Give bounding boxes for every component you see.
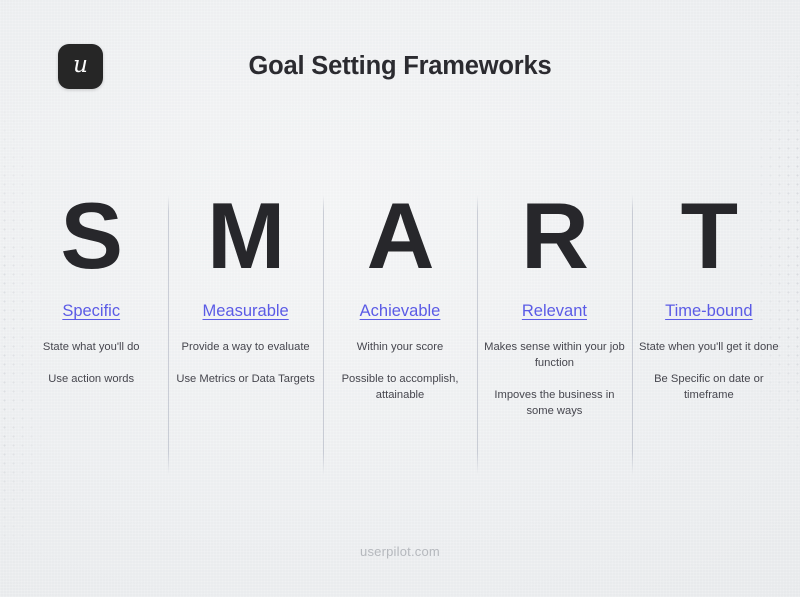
poster-header: u Goal Setting Frameworks bbox=[0, 0, 800, 140]
term-link-relevant[interactable]: Relevant bbox=[522, 302, 587, 321]
description-line: State what you'll do bbox=[20, 339, 162, 355]
acronym-letter: A bbox=[329, 186, 471, 286]
description-line: Use Metrics or Data Targets bbox=[175, 371, 317, 387]
smart-column-measurable: M Measurable Provide a way to evaluate U… bbox=[168, 186, 322, 476]
term-link-time-bound[interactable]: Time-bound bbox=[665, 302, 752, 321]
description-list: State when you'll get it done Be Specifi… bbox=[638, 339, 780, 403]
smart-column-relevant: R Relevant Makes sense within your job f… bbox=[477, 186, 631, 476]
description-line: Within your score bbox=[329, 339, 471, 355]
smart-column-achievable: A Achievable Within your score Possible … bbox=[323, 186, 477, 476]
poster-canvas: u Goal Setting Frameworks S Specific Sta… bbox=[0, 0, 800, 597]
term-link-measurable[interactable]: Measurable bbox=[203, 302, 289, 321]
acronym-letter: M bbox=[174, 186, 316, 286]
description-line: Impoves the business in some ways bbox=[483, 387, 625, 419]
description-line: Use action words bbox=[20, 371, 162, 387]
description-line: Possible to accomplish, attainable bbox=[329, 371, 471, 403]
acronym-letter: T bbox=[638, 186, 780, 286]
description-list: Provide a way to evaluate Use Metrics or… bbox=[174, 339, 316, 387]
page-title: Goal Setting Frameworks bbox=[0, 52, 800, 81]
footer-website[interactable]: userpilot.com bbox=[0, 544, 800, 559]
description-line: Makes sense within your job function bbox=[483, 339, 625, 371]
term-link-achievable[interactable]: Achievable bbox=[360, 302, 441, 321]
description-line: Be Specific on date or timeframe bbox=[638, 371, 780, 403]
acronym-letter: R bbox=[483, 186, 625, 286]
smart-column-specific: S Specific State what you'll do Use acti… bbox=[14, 186, 168, 476]
description-list: State what you'll do Use action words bbox=[20, 339, 162, 387]
acronym-letter: S bbox=[20, 186, 162, 286]
description-list: Makes sense within your job function Imp… bbox=[483, 339, 625, 419]
description-line: State when you'll get it done bbox=[638, 339, 780, 355]
smart-column-time-bound: T Time-bound State when you'll get it do… bbox=[632, 186, 786, 476]
description-line: Provide a way to evaluate bbox=[175, 339, 317, 355]
term-link-specific[interactable]: Specific bbox=[62, 302, 120, 321]
description-list: Within your score Possible to accomplish… bbox=[329, 339, 471, 403]
smart-columns: S Specific State what you'll do Use acti… bbox=[14, 186, 786, 476]
